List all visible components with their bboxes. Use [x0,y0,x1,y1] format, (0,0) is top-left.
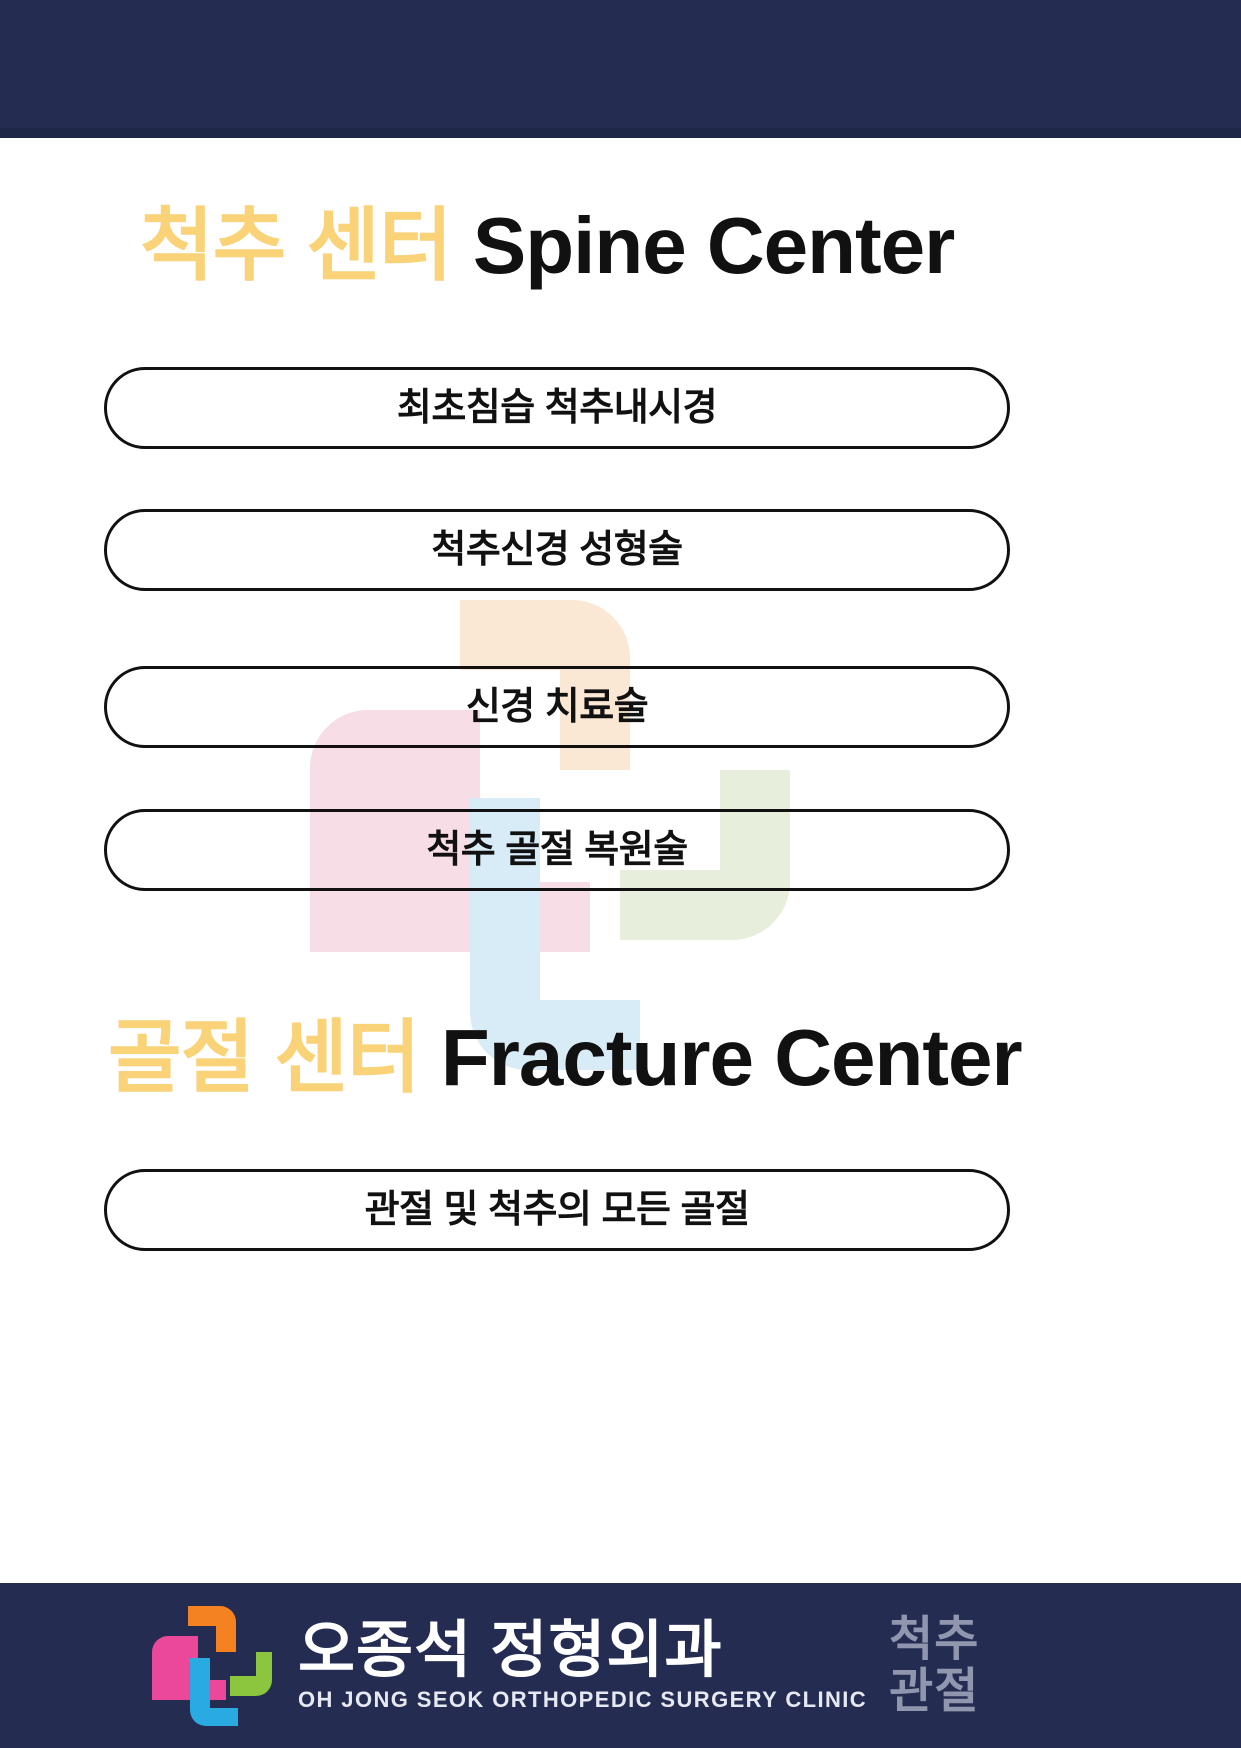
section-heading-fracture-center: 골절 센터 Fracture Center [108,1018,1022,1098]
section-heading-spine-center: 척추 센터 Spine Center [140,206,954,286]
spine-center-heading-en: Spine Center [452,201,955,290]
clinic-specialty-line-1: 척추 [889,1614,979,1666]
footer-logo-lockup: 오종석 정형외과 OH JONG SEOK ORTHOPEDIC SURGERY… [148,1583,979,1748]
fracture-center-heading-ko: 골절 센터 [108,1013,420,1102]
page-body: 척추 센터 Spine Center 최초침습 척추내시경 척추신경 성형술 신… [0,138,1241,1583]
clinic-name-english: OH JONG SEOK ORTHOPEDIC SURGERY CLINIC [298,1687,867,1713]
clinic-specialty-block: 척추 관절 [889,1614,979,1718]
top-band-edge [0,128,1241,138]
spine-service-label-2: 척추신경 성형술 [431,531,682,569]
spine-service-label-4: 척추 골절 복원술 [426,831,687,869]
spine-center-heading-ko: 척추 센터 [140,201,452,290]
clinic-name-korean: 오종석 정형외과 [298,1618,867,1683]
spine-service-pill-2[interactable]: 척추신경 성형술 [104,509,1010,591]
clinic-specialty-line-2: 관절 [889,1666,979,1718]
pinwheel-cross-logo-icon [148,1602,276,1730]
fracture-service-label-1: 관절 및 척추의 모든 골절 [365,1191,750,1229]
fracture-center-heading-en: Fracture Center [420,1013,1022,1102]
fracture-service-pill-1[interactable]: 관절 및 척추의 모든 골절 [104,1169,1010,1251]
spine-service-label-3: 신경 치료술 [466,688,648,726]
spine-service-label-1: 최초침습 척추내시경 [397,389,717,427]
spine-service-pill-1[interactable]: 최초침습 척추내시경 [104,367,1010,449]
spine-service-pill-3[interactable]: 신경 치료술 [104,666,1010,748]
top-navy-band [0,0,1241,128]
footer-bar: 오종석 정형외과 OH JONG SEOK ORTHOPEDIC SURGERY… [0,1583,1241,1748]
spine-service-pill-4[interactable]: 척추 골절 복원술 [104,809,1010,891]
clinic-name-block: 오종석 정형외과 OH JONG SEOK ORTHOPEDIC SURGERY… [298,1618,867,1713]
